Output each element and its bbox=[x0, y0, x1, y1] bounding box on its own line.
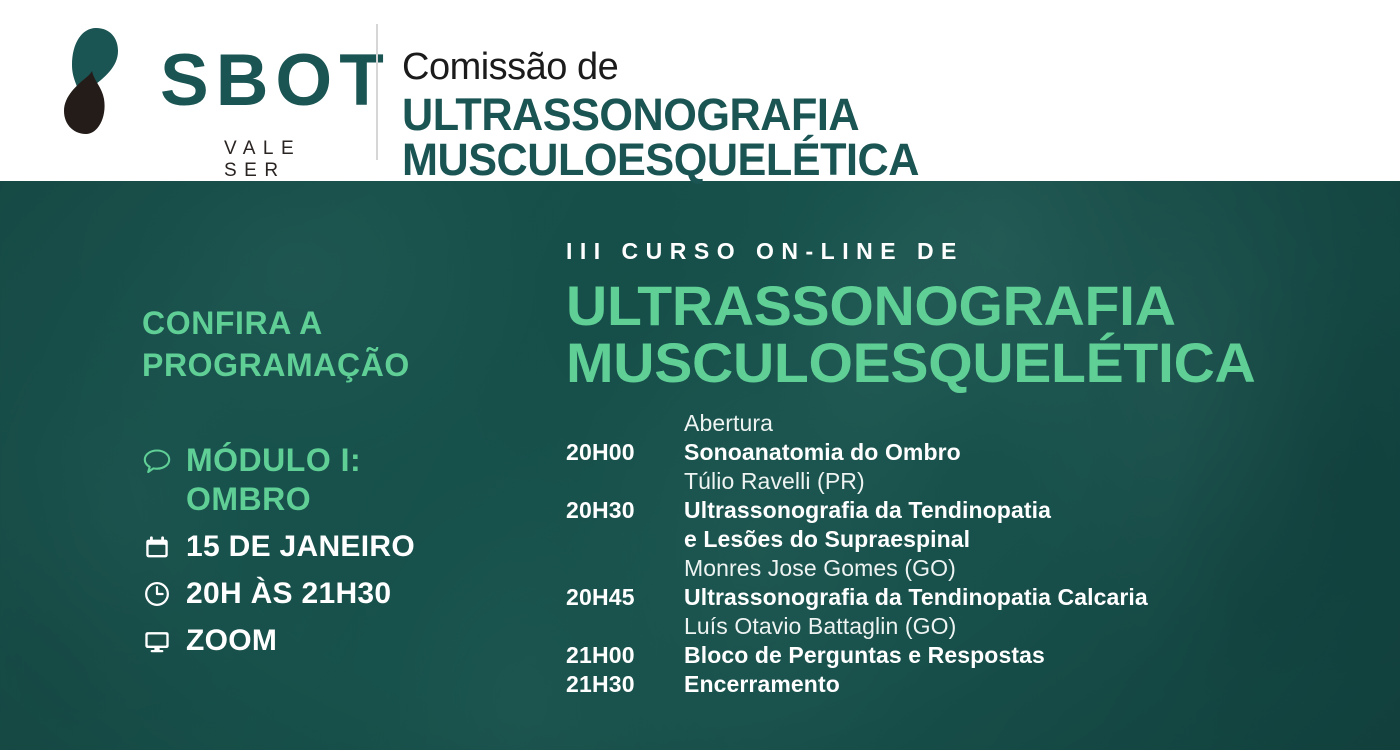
platform-row: ZOOM bbox=[142, 620, 542, 663]
module-info-block: MÓDULO I: OMBRO 15 DE JANEIRO bbox=[142, 440, 542, 662]
sbot-tagline: VALE SER bbox=[224, 138, 352, 182]
schedule-row: Monres Jose Gomes (GO) bbox=[566, 554, 1366, 583]
course-title-line-2: MUSCULOESQUELÉTICA bbox=[566, 334, 1382, 391]
module-subject: OMBRO bbox=[186, 479, 542, 520]
schedule-row: 20H00Sonoanatomia do Ombro bbox=[566, 438, 1366, 467]
event-poster: SBOT VALE SER Comissão de ULTRASSONOGRAF… bbox=[0, 0, 1400, 750]
date-row: 15 DE JANEIRO bbox=[142, 526, 542, 569]
schedule-row: 21H30Encerramento bbox=[566, 670, 1366, 699]
schedule-time bbox=[566, 570, 684, 576]
schedule-time: 20H30 bbox=[566, 496, 684, 525]
commission-prefix: Comissão de bbox=[402, 48, 1400, 86]
schedule-time: 20H00 bbox=[566, 438, 684, 467]
cta-line-1: CONFIRA A bbox=[142, 302, 542, 344]
schedule-title: Sonoanatomia do Ombro bbox=[684, 438, 961, 467]
course-title: ULTRASSONOGRAFIA MUSCULOESQUELÉTICA bbox=[566, 277, 1382, 391]
sbot-logo: SBOT VALE SER bbox=[52, 22, 352, 162]
event-date: 15 DE JANEIRO bbox=[186, 526, 415, 569]
cta-line-2: PROGRAMAÇÃO bbox=[142, 344, 542, 386]
event-details: 15 DE JANEIRO 20H ÀS 21H30 bbox=[142, 526, 542, 662]
schedule-row: Luís Otavio Battaglin (GO) bbox=[566, 612, 1366, 641]
sbot-droplet-logo-icon bbox=[56, 25, 128, 137]
schedule-row: 21H00Bloco de Perguntas e Respostas bbox=[566, 641, 1366, 670]
schedule-title: Abertura bbox=[684, 409, 773, 438]
course-title-line-1: ULTRASSONOGRAFIA bbox=[566, 277, 1382, 334]
event-platform: ZOOM bbox=[186, 620, 277, 663]
schedule-title: Luís Otavio Battaglin (GO) bbox=[684, 612, 956, 641]
course-kicker: III CURSO ON-LINE DE bbox=[566, 240, 1366, 263]
speech-bubble-icon bbox=[142, 446, 172, 476]
module-label: MÓDULO I: bbox=[186, 440, 361, 481]
schedule-time bbox=[566, 425, 684, 431]
clock-icon bbox=[142, 579, 172, 609]
schedule-time: 21H00 bbox=[566, 641, 684, 670]
cta-heading: CONFIRA A PROGRAMAÇÃO bbox=[142, 302, 542, 386]
schedule-row: 20H45Ultrassonografia da Tendinopatia Ca… bbox=[566, 583, 1366, 612]
schedule-row: Túlio Ravelli (PR) bbox=[566, 467, 1366, 496]
schedule-list: Abertura20H00Sonoanatomia do OmbroTúlio … bbox=[566, 409, 1366, 699]
schedule-title: Ultrassonografia da Tendinopatia Calcari… bbox=[684, 583, 1148, 612]
schedule-title: e Lesões do Supraespinal bbox=[684, 525, 970, 554]
module-row: MÓDULO I: bbox=[142, 440, 542, 481]
schedule-row: e Lesões do Supraespinal bbox=[566, 525, 1366, 554]
schedule-row: 20H30Ultrassonografia da Tendinopatia bbox=[566, 496, 1366, 525]
schedule-time bbox=[566, 628, 684, 634]
sbot-wordmark: SBOT bbox=[160, 44, 391, 117]
schedule-row: Abertura bbox=[566, 409, 1366, 438]
right-column: III CURSO ON-LINE DE ULTRASSONOGRAFIA MU… bbox=[566, 240, 1366, 699]
left-column: CONFIRA A PROGRAMAÇÃO MÓDULO I: OMBRO bbox=[142, 302, 542, 662]
header-divider bbox=[376, 24, 378, 160]
schedule-title: Bloco de Perguntas e Respostas bbox=[684, 641, 1045, 670]
event-time: 20H ÀS 21H30 bbox=[186, 573, 391, 616]
commission-title: Comissão de ULTRASSONOGRAFIA MUSCULOESQU… bbox=[402, 48, 1400, 182]
poster-header: SBOT VALE SER Comissão de ULTRASSONOGRAF… bbox=[0, 0, 1400, 181]
schedule-title: Ultrassonografia da Tendinopatia bbox=[684, 496, 1051, 525]
schedule-time: 20H45 bbox=[566, 583, 684, 612]
schedule-title: Túlio Ravelli (PR) bbox=[684, 467, 865, 496]
time-row: 20H ÀS 21H30 bbox=[142, 573, 542, 616]
schedule-time: 21H30 bbox=[566, 670, 684, 699]
schedule-title: Encerramento bbox=[684, 670, 840, 699]
monitor-icon bbox=[142, 626, 172, 656]
schedule-time bbox=[566, 541, 684, 547]
schedule-title: Monres Jose Gomes (GO) bbox=[684, 554, 956, 583]
calendar-icon bbox=[142, 533, 172, 563]
schedule-time bbox=[566, 483, 684, 489]
commission-name: ULTRASSONOGRAFIA MUSCULOESQUELÉTICA bbox=[402, 92, 1360, 182]
